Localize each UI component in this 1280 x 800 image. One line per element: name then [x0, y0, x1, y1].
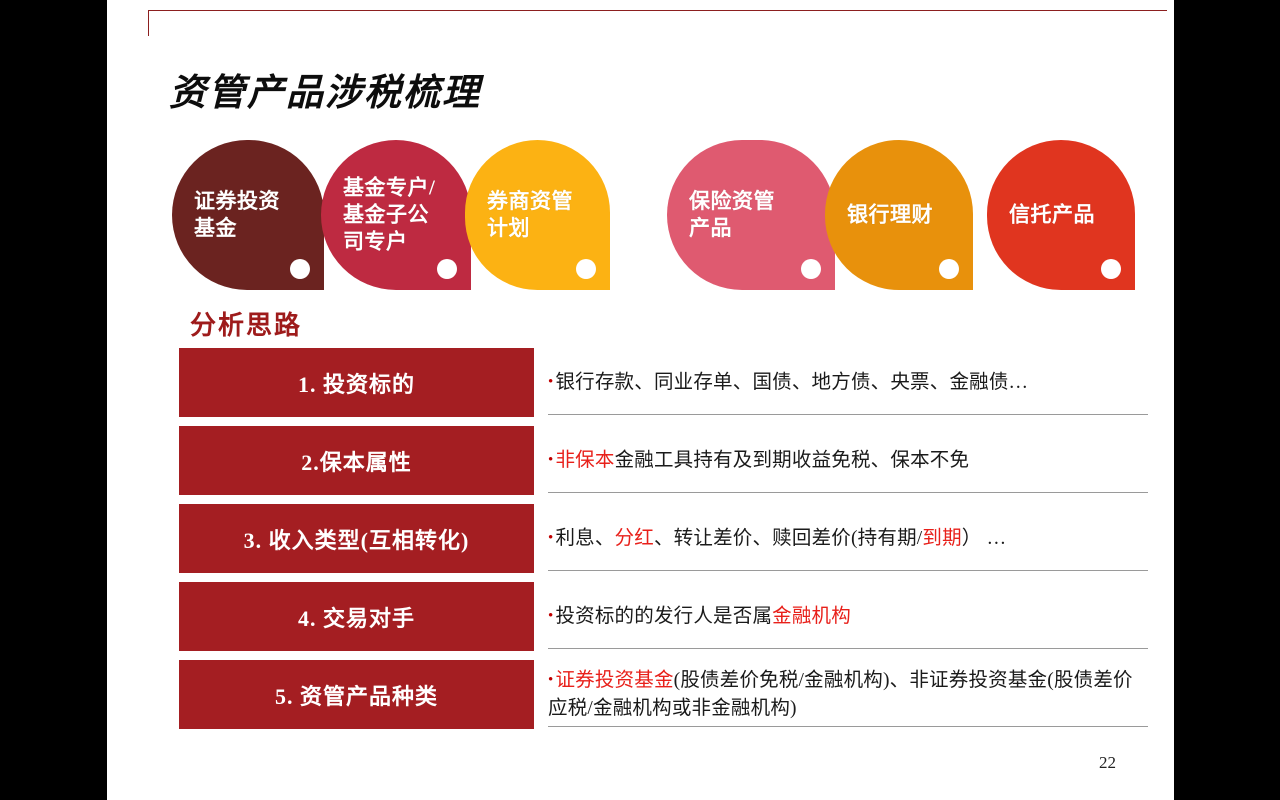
white-dot-icon	[801, 259, 821, 279]
analysis-step-label: 1. 投资标的	[298, 367, 415, 399]
analysis-step-bullet-text: 非保本金融工具持有及到期收益免税、保本不免	[548, 446, 969, 475]
bullet-underline	[548, 492, 1148, 493]
analysis-step-label: 4. 交易对手	[298, 601, 415, 633]
product-category-brokerage-asset-management-plan[interactable]: 券商资管 计划	[465, 140, 610, 290]
analysis-step-bullet-2: 非保本金融工具持有及到期收益免税、保本不免	[548, 426, 1148, 495]
analysis-step-row: 2.保本属性非保本金融工具持有及到期收益免税、保本不免	[107, 426, 1174, 504]
analysis-step-bullet-4: 投资标的的发行人是否属金融机构	[548, 582, 1148, 651]
bullet-text-segment: 利息、	[555, 528, 614, 549]
analysis-step-row: 3. 收入类型(互相转化)利息、分红、转让差价、赎回差价(持有期/到期） …	[107, 504, 1174, 582]
bullet-underline	[548, 414, 1148, 415]
analysis-step-label: 5. 资管产品种类	[275, 679, 438, 711]
product-category-label: 保险资管 产品	[689, 188, 775, 242]
analysis-step-row: 4. 交易对手投资标的的发行人是否属金融机构	[107, 582, 1174, 660]
analysis-step-box-3[interactable]: 3. 收入类型(互相转化)	[179, 504, 534, 573]
product-category-row: 证券投资 基金基金专户/ 基金子公 司专户券商资管 计划保险资管 产品银行理财信…	[107, 140, 1174, 295]
analysis-heading: 分析思路	[190, 305, 302, 342]
slide-stage: 资管产品涉税梳理 证券投资 基金基金专户/ 基金子公 司专户券商资管 计划保险资…	[0, 0, 1280, 800]
analysis-step-bullet-1: 银行存款、同业存单、国债、地方债、央票、金融债…	[548, 348, 1148, 417]
analysis-steps-list: 1. 投资标的银行存款、同业存单、国债、地方债、央票、金融债…2.保本属性非保本…	[107, 348, 1174, 768]
analysis-step-bullet-text: 投资标的的发行人是否属金融机构	[548, 602, 851, 631]
analysis-step-box-5[interactable]: 5. 资管产品种类	[179, 660, 534, 729]
analysis-step-bullet-5: 证券投资基金(股债差价免税/金融机构)、非证券投资基金(股债差价应税/金融机构或…	[548, 660, 1148, 729]
analysis-step-box-1[interactable]: 1. 投资标的	[179, 348, 534, 417]
slide-canvas: 资管产品涉税梳理 证券投资 基金基金专户/ 基金子公 司专户券商资管 计划保险资…	[107, 0, 1174, 800]
bullet-text-segment: 投资标的的发行人是否属	[555, 606, 772, 627]
analysis-step-bullet-text: 银行存款、同业存单、国债、地方债、央票、金融债…	[548, 368, 1028, 397]
bullet-underline	[548, 726, 1148, 727]
product-category-bank-wealth-management[interactable]: 银行理财	[825, 140, 973, 290]
letterbox-bar-left	[0, 0, 107, 800]
bullet-text-segment: 非保本	[555, 450, 614, 471]
bullet-text-segment: 银行存款、同业存单、国债、地方债、央票、金融债…	[555, 372, 1028, 393]
product-category-fund-special-account[interactable]: 基金专户/ 基金子公 司专户	[321, 140, 471, 290]
white-dot-icon	[437, 259, 457, 279]
white-dot-icon	[939, 259, 959, 279]
product-category-label: 券商资管 计划	[487, 188, 573, 242]
analysis-step-box-2[interactable]: 2.保本属性	[179, 426, 534, 495]
analysis-step-box-4[interactable]: 4. 交易对手	[179, 582, 534, 651]
analysis-step-bullet-text: 证券投资基金(股债差价免税/金融机构)、非证券投资基金(股债差价应税/金融机构或…	[548, 666, 1148, 723]
analysis-step-bullet-text: 利息、分红、转让差价、赎回差价(持有期/到期） …	[548, 524, 1006, 553]
bullet-text-segment: 、转让差价、赎回差价(持有期/	[654, 528, 922, 549]
product-category-trust-product[interactable]: 信托产品	[987, 140, 1135, 290]
bullet-underline	[548, 648, 1148, 649]
product-category-insurance-asset-management-product[interactable]: 保险资管 产品	[667, 140, 835, 290]
analysis-step-bullet-3: 利息、分红、转让差价、赎回差价(持有期/到期） …	[548, 504, 1148, 573]
product-category-securities-investment-fund[interactable]: 证券投资 基金	[172, 140, 324, 290]
bullet-text-segment: 分红	[615, 528, 654, 549]
letterbox-bar-right	[1174, 0, 1280, 800]
white-dot-icon	[576, 259, 596, 279]
bullet-text-segment: 金融工具持有及到期收益免税、保本不免	[615, 450, 970, 471]
white-dot-icon	[290, 259, 310, 279]
product-category-label: 基金专户/ 基金子公 司专户	[343, 175, 435, 256]
bullet-text-segment: ） …	[962, 528, 1006, 549]
product-category-label: 信托产品	[1009, 202, 1095, 229]
page-number: 22	[1099, 753, 1116, 773]
bullet-text-segment: 金融机构	[772, 606, 851, 627]
white-dot-icon	[1101, 259, 1121, 279]
analysis-step-label: 2.保本属性	[301, 445, 412, 477]
page-title: 资管产品涉税梳理	[169, 62, 481, 116]
bullet-underline	[548, 570, 1148, 571]
bullet-text-segment: 到期	[922, 528, 961, 549]
analysis-step-row: 1. 投资标的银行存款、同业存单、国债、地方债、央票、金融债…	[107, 348, 1174, 426]
analysis-step-label: 3. 收入类型(互相转化)	[244, 523, 470, 555]
product-category-label: 银行理财	[847, 202, 933, 229]
product-category-label: 证券投资 基金	[194, 188, 280, 242]
analysis-step-row: 5. 资管产品种类证券投资基金(股债差价免税/金融机构)、非证券投资基金(股债差…	[107, 660, 1174, 738]
bullet-text-segment: 证券投资基金	[555, 670, 673, 691]
